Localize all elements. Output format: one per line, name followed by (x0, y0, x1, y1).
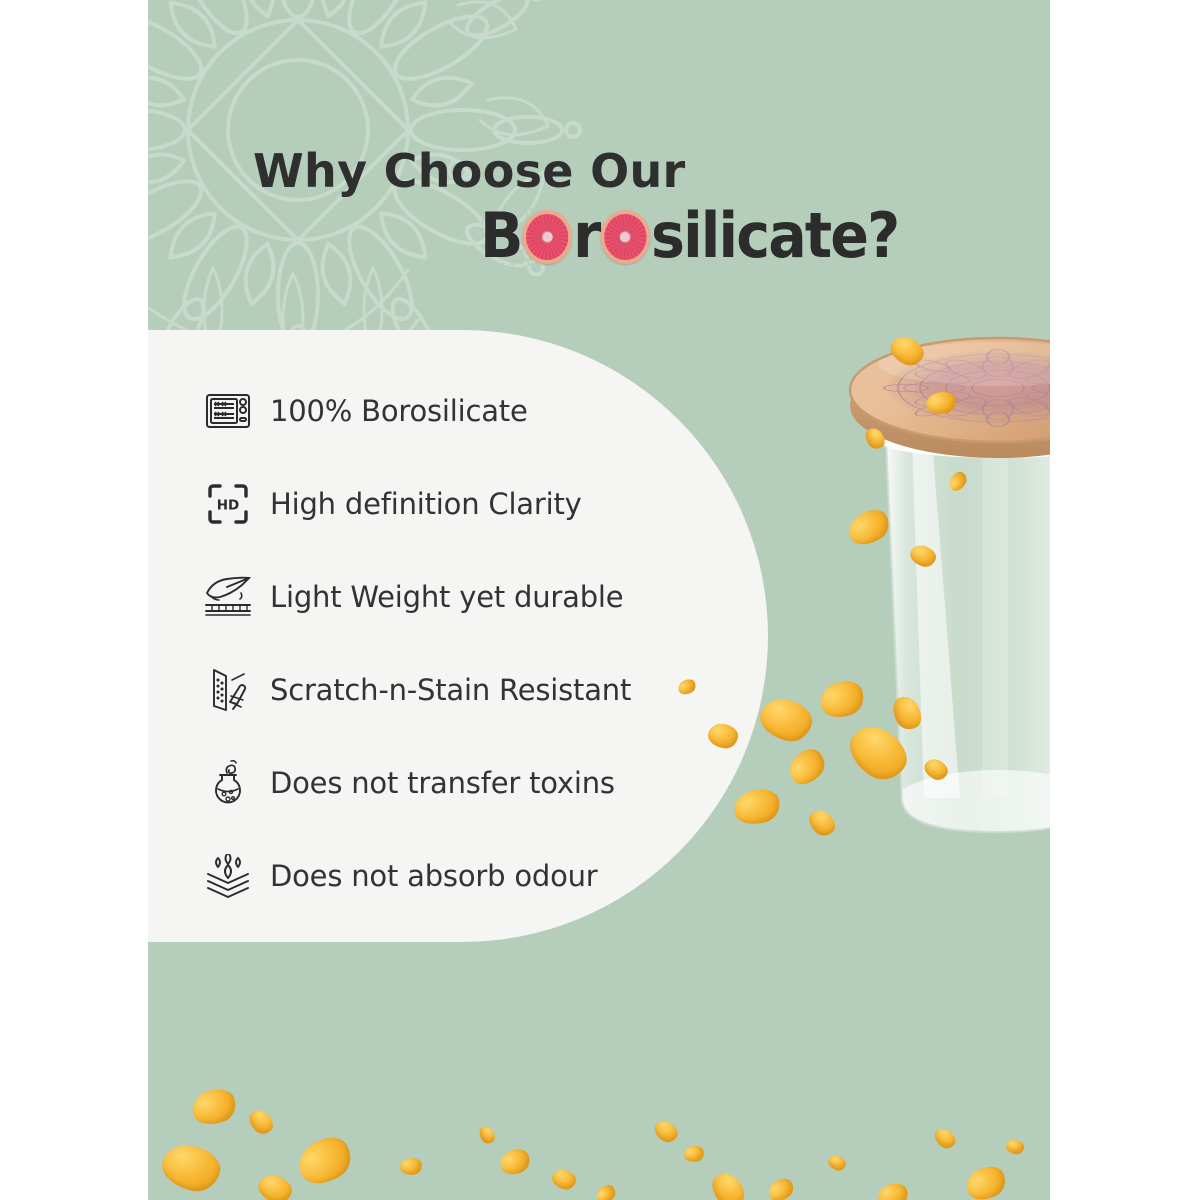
headline-block: Why Choose Our Brsilicate? (148, 148, 1050, 277)
infographic-canvas: Why Choose Our Brsilicate? (0, 0, 1200, 1200)
glass-jar-image (832, 328, 1050, 858)
jar-glass-body (886, 440, 1050, 838)
feature-list: 100% Borosilicate HD High definition Cla… (196, 364, 716, 922)
feature-label: Does not transfer toxins (270, 766, 615, 800)
boro-segment-1: B (480, 199, 522, 272)
feature-card: 100% Borosilicate HD High definition Cla… (148, 330, 768, 942)
feature-item-borosilicate: 100% Borosilicate (196, 364, 716, 457)
boro-segment-2: r (573, 199, 599, 272)
borosilicate-word: Brsilicate? (480, 205, 898, 267)
headline-line-2: Brsilicate? (148, 205, 1050, 277)
hd-clarity-icon: HD (196, 475, 260, 533)
feature-item-odour: Does not absorb odour (196, 829, 716, 922)
scratch-blade-icon (196, 661, 260, 719)
toxin-flask-icon (196, 754, 260, 812)
mandala-disc-o-first (523, 210, 573, 264)
feature-label: Scratch-n-Stain Resistant (270, 673, 631, 707)
feature-item-toxins: Does not transfer toxins (196, 736, 716, 829)
feature-item-clarity: HD High definition Clarity (196, 457, 716, 550)
feature-label: 100% Borosilicate (270, 394, 528, 428)
feature-item-lightweight: Light Weight yet durable (196, 550, 716, 643)
svg-text:HD: HD (217, 497, 240, 513)
headline-line-1: Why Choose Our (148, 148, 1050, 195)
boro-segment-3: silicate? (651, 199, 898, 272)
feature-item-scratch: Scratch-n-Stain Resistant (196, 643, 716, 736)
feather-lightweight-icon (196, 568, 260, 626)
feature-label: Does not absorb odour (270, 859, 598, 893)
feature-label: Light Weight yet durable (270, 580, 623, 614)
feature-label: High definition Clarity (270, 487, 582, 521)
odour-water-drop-layers-icon (196, 847, 260, 905)
mandala-disc-o-second (600, 210, 650, 264)
microwave-oven-icon (196, 382, 260, 440)
